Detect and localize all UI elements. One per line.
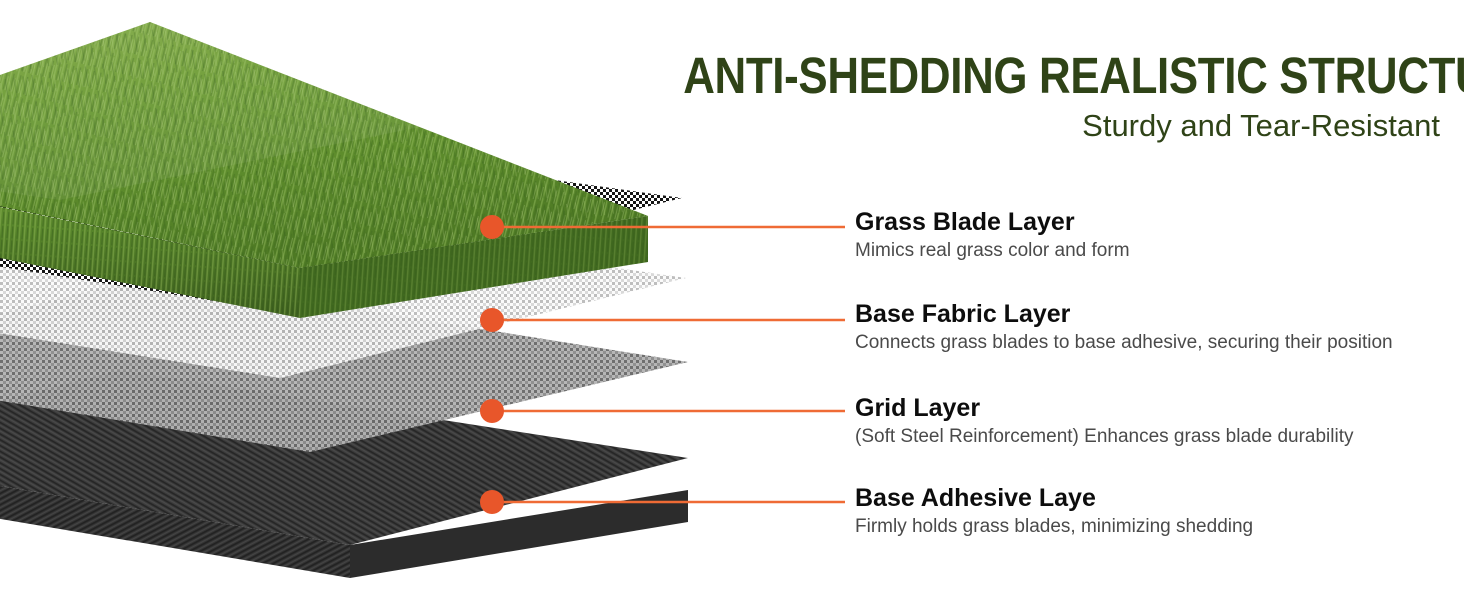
callout-title: Grass Blade Layer xyxy=(855,208,1455,237)
callout-grass-blade-layer: Grass Blade Layer Mimics real grass colo… xyxy=(855,208,1455,262)
callout-base-adhesive-layer: Base Adhesive Laye Firmly holds grass bl… xyxy=(855,484,1455,538)
page-title: ANTI-SHEDDING REALISTIC STRUCTURE xyxy=(683,50,1440,102)
callout-title: Grid Layer xyxy=(855,394,1455,423)
callout-description: (Soft Steel Reinforcement) Enhances gras… xyxy=(855,425,1455,448)
callout-description: Mimics real grass color and form xyxy=(855,239,1455,262)
callout-base-fabric-layer: Base Fabric Layer Connects grass blades … xyxy=(855,300,1455,354)
page-subtitle: Sturdy and Tear-Resistant xyxy=(560,108,1440,144)
callout-title: Base Fabric Layer xyxy=(855,300,1455,329)
callout-description: Connects grass blades to base adhesive, … xyxy=(855,331,1455,354)
callout-title: Base Adhesive Laye xyxy=(855,484,1455,513)
layer-grass-blade xyxy=(0,22,648,318)
callout-description: Firmly holds grass blades, minimizing sh… xyxy=(855,515,1455,538)
callout-grid-layer: Grid Layer (Soft Steel Reinforcement) En… xyxy=(855,394,1455,448)
infographic-canvas: ANTI-SHEDDING REALISTIC STRUCTURE Sturdy… xyxy=(0,0,1464,600)
header-block: ANTI-SHEDDING REALISTIC STRUCTURE Sturdy… xyxy=(560,50,1440,144)
